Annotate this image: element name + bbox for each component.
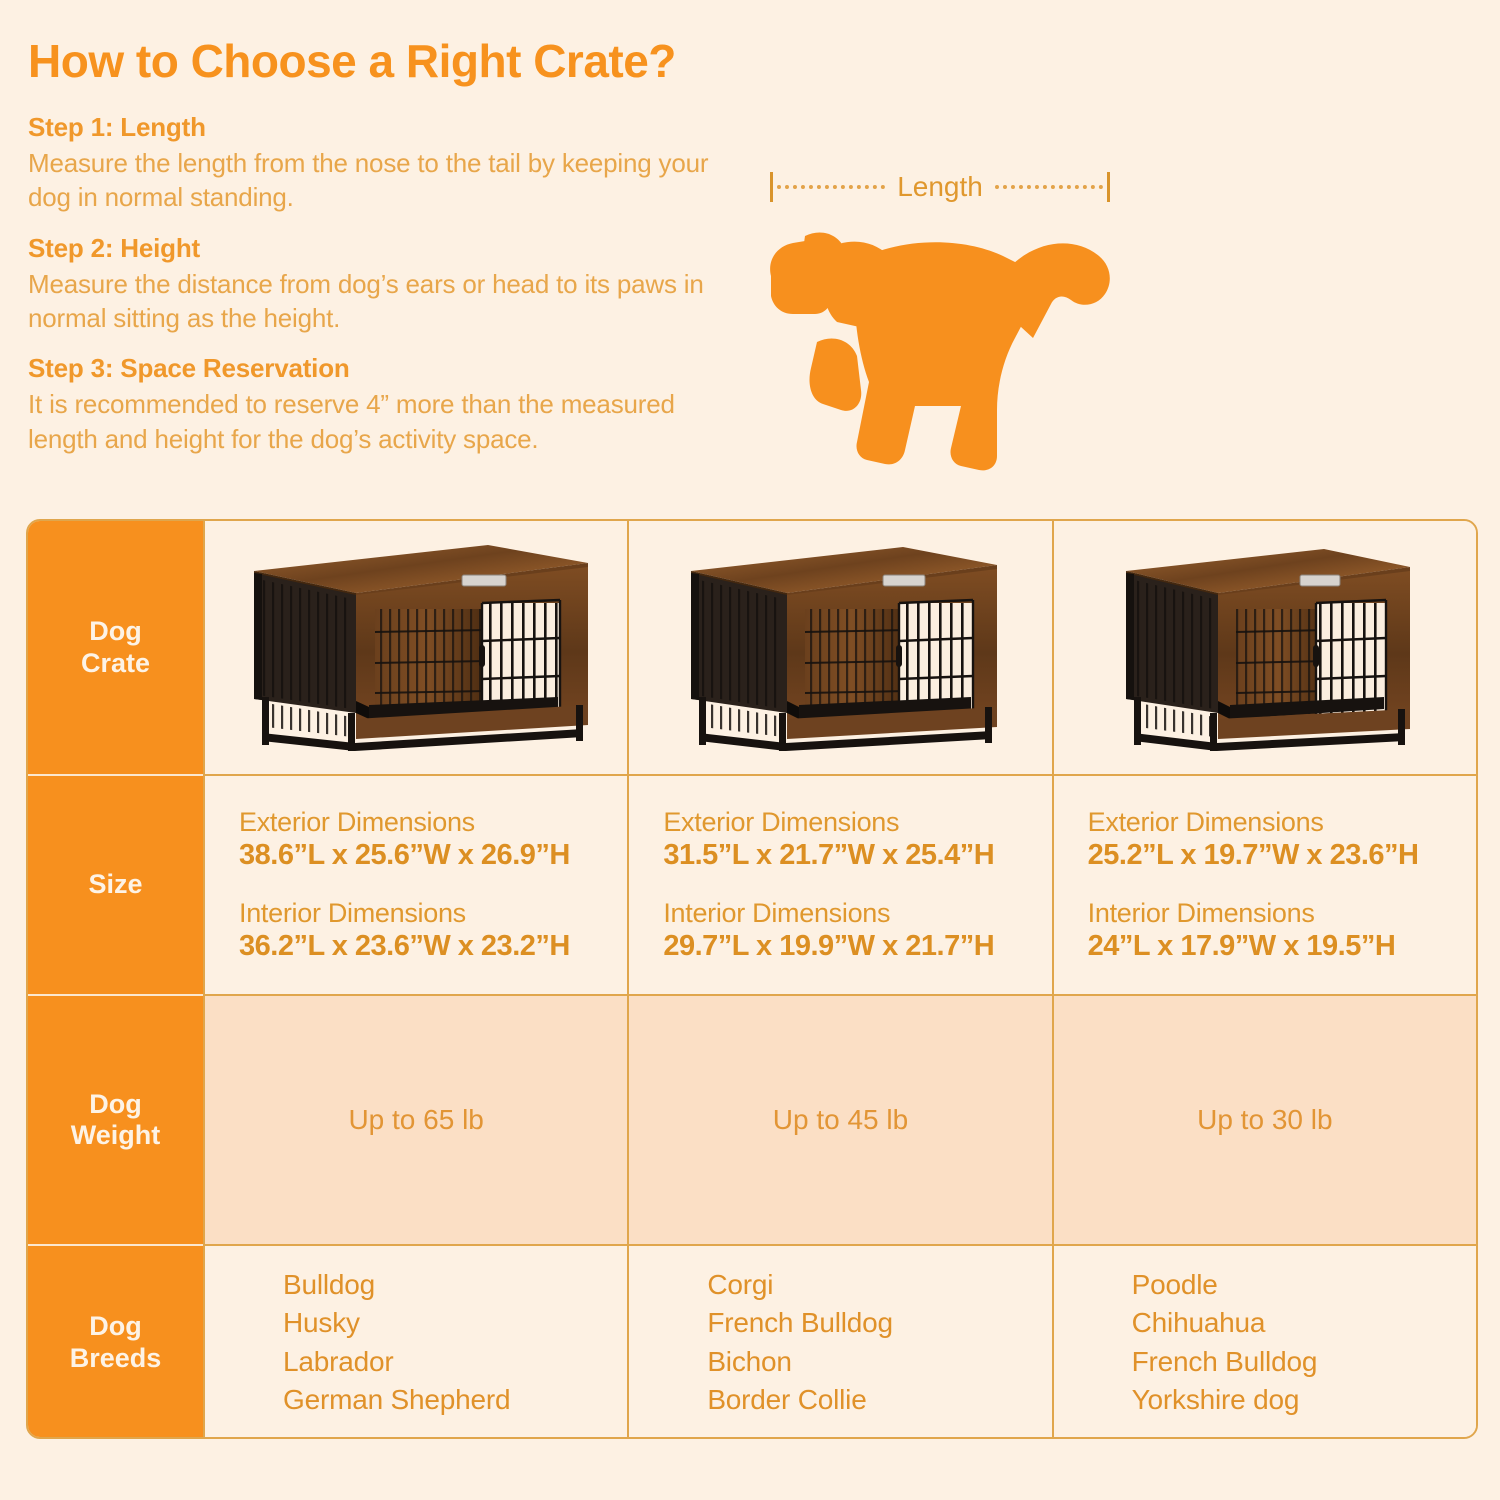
breed-item: Husky	[283, 1304, 627, 1342]
crate-image-cell-medium	[627, 521, 1051, 776]
page-title: How to Choose a Right Crate?	[28, 34, 676, 88]
interior-dimensions-label: Interior Dimensions	[1088, 898, 1476, 929]
breeds-cell-small: Poodle Chihuahua French Bulldog Yorkshir…	[1052, 1246, 1476, 1439]
exterior-dimensions-label: Exterior Dimensions	[239, 807, 627, 838]
breed-item: Poodle	[1132, 1266, 1476, 1304]
exterior-dimensions-label: Exterior Dimensions	[663, 807, 1051, 838]
breed-item: German Shepherd	[283, 1381, 627, 1419]
breed-item: Border Collie	[707, 1381, 1051, 1419]
interior-dimensions-value: 36.2”L x 23.6”W x 23.2”H	[239, 930, 627, 963]
breed-item: Chihuahua	[1132, 1304, 1476, 1342]
crate-image-cell-large	[203, 521, 627, 776]
step-heading: Step 3: Space Reservation	[28, 353, 748, 384]
dog-crate-furniture-large-icon	[205, 521, 627, 774]
weight-cell-medium: Up to 45 lb	[627, 996, 1051, 1246]
breed-item: Yorkshire dog	[1132, 1381, 1476, 1419]
step-heading: Step 1: Length	[28, 112, 748, 143]
length-dimension-ruler: Length	[770, 168, 1110, 206]
breed-item: Bichon	[707, 1343, 1051, 1381]
breed-item: Labrador	[283, 1343, 627, 1381]
breeds-cell-medium: Corgi French Bulldog Bichon Border Colli…	[627, 1246, 1051, 1439]
ruler-dotted-line-icon	[777, 185, 885, 189]
row-header-label: Size	[88, 869, 142, 900]
exterior-dimensions-value: 31.5”L x 21.7”W x 25.4”H	[663, 839, 1051, 872]
crate-comparison-table: Dog Crate	[26, 519, 1478, 1439]
ruler-end-cap-right-icon	[1107, 172, 1110, 202]
size-cell-small: Exterior Dimensions 25.2”L x 19.7”W x 23…	[1052, 776, 1476, 996]
row-header-line1: Dog	[70, 1311, 162, 1342]
row-header-dog-weight: Dog Weight	[28, 996, 203, 1246]
breeds-list: Poodle Chihuahua French Bulldog Yorkshir…	[1054, 1266, 1476, 1419]
crate-image-cell-small	[1052, 521, 1476, 776]
infographic-page: How to Choose a Right Crate? Step 1: Len…	[0, 0, 1500, 1500]
ruler-dotted-line-icon	[995, 185, 1103, 189]
measurement-diagram: Length	[755, 150, 1485, 490]
ruler-end-cap-left-icon	[770, 172, 773, 202]
interior-dimensions-value: 29.7”L x 19.9”W x 21.7”H	[663, 930, 1051, 963]
step-item: Step 1: Length Measure the length from t…	[28, 112, 748, 215]
step-heading: Step 2: Height	[28, 233, 748, 264]
step-body: Measure the distance from dog’s ears or …	[28, 267, 748, 336]
length-label: Length	[889, 171, 991, 203]
interior-dimensions-label: Interior Dimensions	[239, 898, 627, 929]
breeds-cell-large: Bulldog Husky Labrador German Shepherd	[203, 1246, 627, 1439]
breed-item: French Bulldog	[707, 1304, 1051, 1342]
row-header-size: Size	[28, 776, 203, 996]
row-header-line1: Dog	[81, 616, 150, 647]
row-header-line1: Dog	[71, 1089, 161, 1120]
exterior-dimensions-label: Exterior Dimensions	[1088, 807, 1476, 838]
row-header-dog-breeds: Dog Breeds	[28, 1246, 203, 1439]
row-header-dog-crate: Dog Crate	[28, 521, 203, 776]
size-cell-large: Exterior Dimensions 38.6”L x 25.6”W x 26…	[203, 776, 627, 996]
dog-crate-furniture-small-icon	[1054, 521, 1476, 774]
weight-value: Up to 30 lb	[1197, 1104, 1332, 1136]
size-cell-medium: Exterior Dimensions 31.5”L x 21.7”W x 25…	[627, 776, 1051, 996]
step-body: Measure the length from the nose to the …	[28, 146, 748, 215]
step-item: Step 2: Height Measure the distance from…	[28, 233, 748, 336]
interior-dimensions-label: Interior Dimensions	[663, 898, 1051, 929]
weight-cell-large: Up to 65 lb	[203, 996, 627, 1246]
breeds-list: Bulldog Husky Labrador German Shepherd	[205, 1266, 627, 1419]
step-item: Step 3: Space Reservation It is recommen…	[28, 353, 748, 456]
weight-cell-small: Up to 30 lb	[1052, 996, 1476, 1246]
weight-value: Up to 65 lb	[348, 1104, 483, 1136]
dog-standing-silhouette-icon	[765, 210, 1115, 485]
row-header-line2: Weight	[71, 1120, 161, 1151]
breed-item: French Bulldog	[1132, 1343, 1476, 1381]
steps-list: Step 1: Length Measure the length from t…	[28, 112, 748, 474]
exterior-dimensions-value: 38.6”L x 25.6”W x 26.9”H	[239, 839, 627, 872]
breed-item: Corgi	[707, 1266, 1051, 1304]
step-body: It is recommended to reserve 4” more tha…	[28, 387, 748, 456]
row-header-line2: Crate	[81, 648, 150, 679]
interior-dimensions-value: 24”L x 17.9”W x 19.5”H	[1088, 930, 1476, 963]
weight-value: Up to 45 lb	[773, 1104, 908, 1136]
breed-item: Bulldog	[283, 1266, 627, 1304]
dog-crate-furniture-medium-icon	[629, 521, 1051, 774]
exterior-dimensions-value: 25.2”L x 19.7”W x 23.6”H	[1088, 839, 1476, 872]
row-header-line2: Breeds	[70, 1343, 162, 1374]
breeds-list: Corgi French Bulldog Bichon Border Colli…	[629, 1266, 1051, 1419]
